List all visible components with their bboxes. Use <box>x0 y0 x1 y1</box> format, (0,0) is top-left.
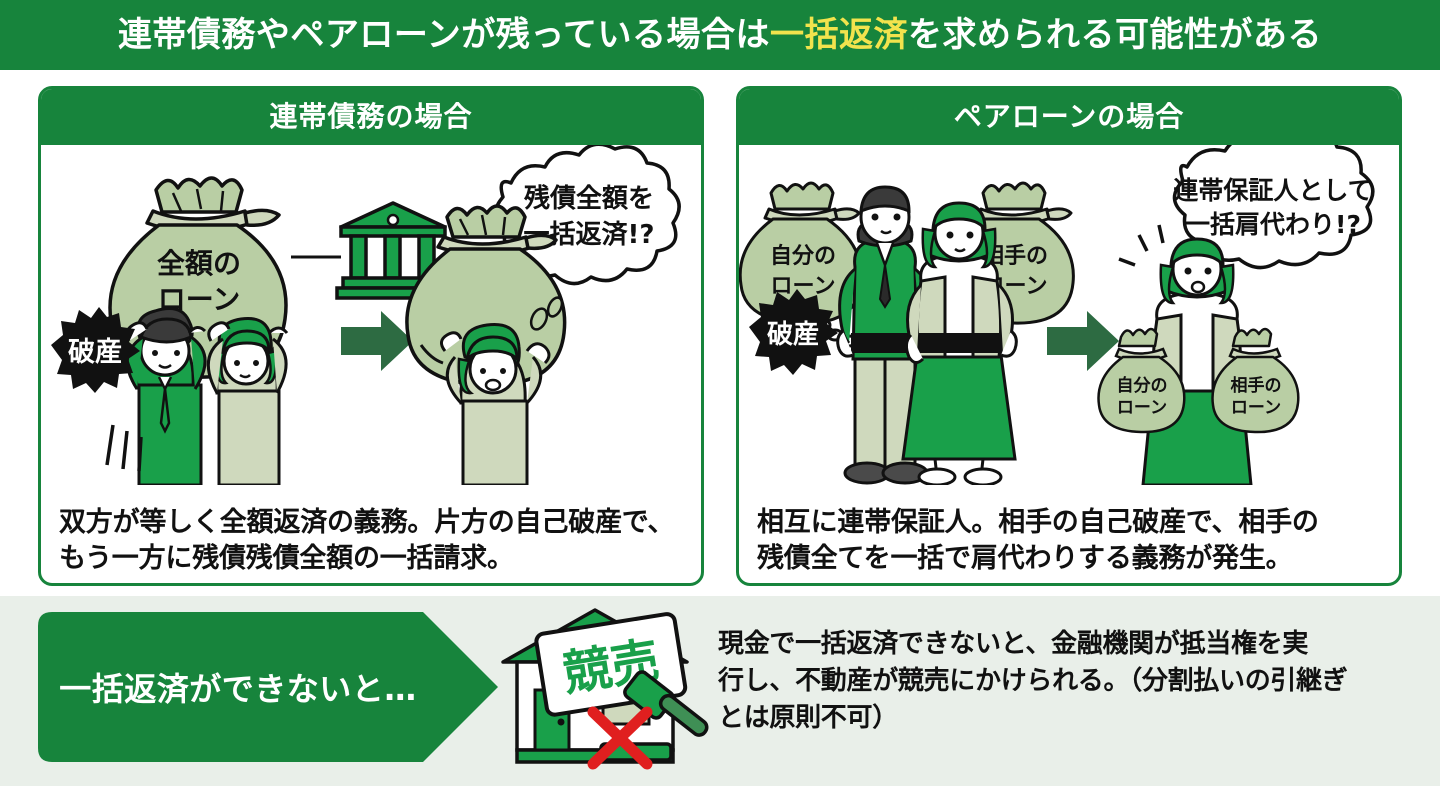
panel-pair-loan-header: ペアローンの場合 <box>739 89 1399 145</box>
bottom-note-line-1: 現金で一括返済できないと、金融機関が抵当権を実 <box>718 626 1408 663</box>
bottom-note-line-3: とは原則不可） <box>718 700 1408 737</box>
panel-joint-debt-title: 連帯債務の場合 <box>269 103 472 131</box>
infographic-page: 連帯債務やペアローンが残っている場合は一括返済を求められる可能性がある 連帯債務… <box>0 0 1440 786</box>
title-text-after: を求められる可能性がある <box>908 15 1322 55</box>
bag-partner-loan-after-line2: ローン <box>1231 398 1281 418</box>
title-text-before: 連帯債務やペアローンが残っている場合は <box>118 15 770 55</box>
panel-joint-debt-illustration: 全額の ローン <box>41 145 701 485</box>
thought-bubble-right-line1: 連帯保証人として <box>1173 176 1372 205</box>
bottom-note-text: 現金で一括返済できないと、金融機関が抵当権を実 行し、不動産が競売にかけられる。… <box>718 626 1408 737</box>
caption-line-1: 双方が等しく全額返済の義務。片方の自己破産で、 <box>59 505 683 541</box>
caption-line-2: もう一方に残債残債全額の一括請求。 <box>59 541 683 577</box>
bankruptcy-badge-label: 破産 <box>68 337 122 368</box>
joint-debt-scene: 全額の ローン <box>41 145 701 485</box>
bottom-section: 一括返済ができないと… 競売 <box>0 596 1440 786</box>
caption-right-line-2: 残債全てを一括で肩代わりする義務が発生。 <box>757 541 1381 577</box>
bag-partner-loan-after-line1: 相手の <box>1231 375 1282 396</box>
bag-own-loan-after-line2: ローン <box>1117 398 1167 418</box>
panel-pair-loan-illustration: 自分の ローン 相手の ローン <box>739 145 1399 485</box>
bag-own-loan-after-line1: 自分の <box>1117 375 1168 396</box>
title-text-highlight: 一括返済 <box>770 15 908 55</box>
thought-bubble-right-line2: 一括肩代わり!? <box>1185 210 1361 239</box>
arrow-banner-label: 一括返済ができないと… <box>38 612 438 762</box>
lump-sum-arrow-banner: 一括返済ができないと… <box>38 612 498 762</box>
header-banner: 連帯債務やペアローンが残っている場合は一括返済を求められる可能性がある <box>0 0 1440 70</box>
auction-illustration: 競売 <box>495 604 715 774</box>
caption-right-line-1: 相互に連帯保証人。相手の自己破産で、相手の <box>757 505 1381 541</box>
bag-label-line1: 全額の <box>157 247 241 280</box>
pair-loan-scene: 自分の ローン 相手の ローン <box>739 145 1399 485</box>
person-woman <box>208 318 287 485</box>
panel-joint-debt-header: 連帯債務の場合 <box>41 89 701 145</box>
page-title: 連帯債務やペアローンが残っている場合は一括返済を求められる可能性がある <box>118 18 1322 52</box>
bag-own-loan-line1: 自分の <box>770 243 836 269</box>
bankruptcy-badge-right-label: 破産 <box>767 320 819 350</box>
thought-bubble-left-line1: 残債全額を <box>523 183 654 214</box>
panel-pair-loan: ペアローンの場合 自分の ローン <box>736 86 1402 586</box>
panel-pair-loan-caption: 相互に連帯保証人。相手の自己破産で、相手の 残債全てを一括で肩代わりする義務が発… <box>739 505 1399 577</box>
bottom-note-line-2: 行し、不動産が競売にかけられる。（分割払いの引継ぎ <box>718 663 1408 700</box>
panel-joint-debt-caption: 双方が等しく全額返済の義務。片方の自己破産で、 もう一方に残債残債全額の一括請求… <box>41 505 701 577</box>
right-arrow-icon-pair <box>1047 311 1119 371</box>
right-arrow-icon <box>341 311 413 371</box>
panel-pair-loan-title: ペアローンの場合 <box>954 103 1185 131</box>
panel-joint-debt: 連帯債務の場合 <box>38 86 704 586</box>
panels-row: 連帯債務の場合 <box>0 70 1440 590</box>
auction-house-scene: 競売 <box>495 604 715 774</box>
motion-lines <box>107 425 141 471</box>
